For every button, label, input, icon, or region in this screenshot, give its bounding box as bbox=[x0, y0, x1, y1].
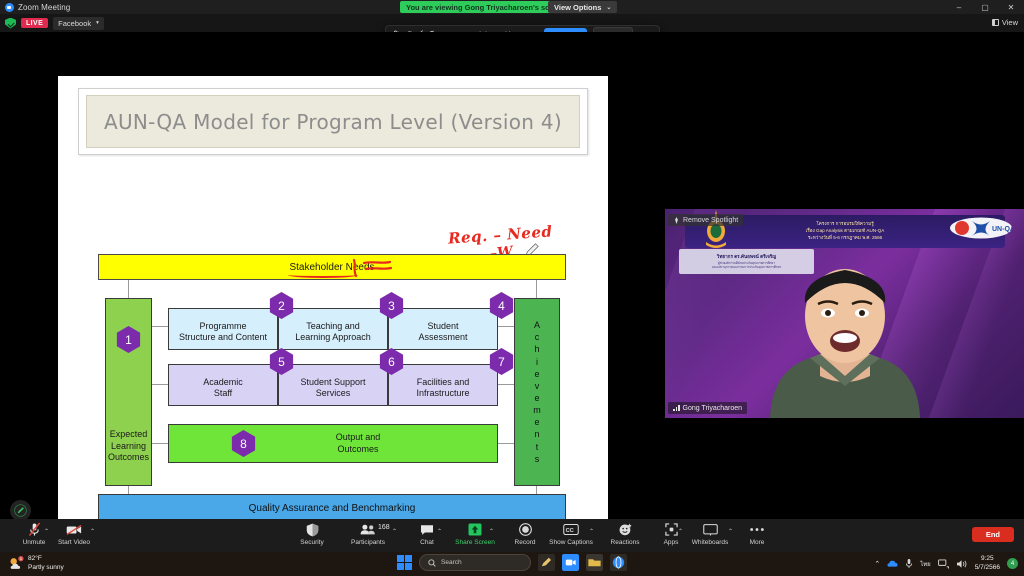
security-label: Security bbox=[300, 539, 323, 546]
mic-muted-icon bbox=[28, 522, 41, 537]
chat-bubble-icon bbox=[420, 522, 434, 537]
speaker-name-card: วิทยากร ดร.คันธพจน์ ตรีเจริญ ผู้ช่วยอธิก… bbox=[679, 249, 814, 274]
weather-widget[interactable]: 1 82°F Partly sunny bbox=[8, 555, 64, 573]
chevron-down-icon: ⌄ bbox=[606, 4, 611, 11]
people-icon bbox=[360, 522, 376, 537]
chat-label: Chat bbox=[420, 539, 434, 546]
ellipsis-icon bbox=[749, 522, 765, 537]
weather-description: Partly sunny bbox=[28, 564, 64, 573]
quality-assurance-bar: Quality Assurance and Benchmarking bbox=[98, 494, 566, 519]
windows-taskbar: 1 82°F Partly sunny Search bbox=[0, 552, 1024, 576]
clock-time: 9:25 bbox=[975, 555, 1000, 564]
connector bbox=[498, 326, 514, 327]
banner-line-3: ระหว่างวันที่ 5-6 กรกฎาคม พ.ศ. 2566 bbox=[806, 235, 885, 242]
box-2-line-1: Programme bbox=[199, 321, 246, 331]
shield-check-icon bbox=[5, 18, 16, 29]
show-captions-label: Show Captions bbox=[549, 539, 593, 546]
event-banner-text: โครงการ การอบรมให้ความรู้ เรื่อง Gap Ana… bbox=[806, 221, 885, 242]
connector bbox=[498, 443, 514, 444]
record-icon bbox=[519, 522, 532, 537]
box-6-line-2: Services bbox=[316, 388, 351, 398]
cc-icon: CC bbox=[563, 522, 579, 537]
system-tray: ⌃ ไทย 9:25 5/7/2566 4 bbox=[874, 555, 1018, 573]
tray-expand-caret[interactable]: ⌃ bbox=[874, 560, 880, 568]
participant-name-label: Gong Triyacharoen bbox=[668, 402, 747, 414]
view-icon bbox=[992, 19, 999, 26]
taskbar-app-explorer-icon[interactable] bbox=[586, 554, 603, 571]
output-line-1: Output and bbox=[336, 432, 381, 442]
screen-share-banner: You are viewing Gong Triyacharoen's scre… bbox=[400, 1, 571, 13]
annotate-pen-button[interactable] bbox=[10, 500, 31, 519]
spotlight-icon bbox=[673, 217, 680, 224]
output-line-2: Outcomes bbox=[337, 444, 378, 454]
box-7-line-1: Facilities and bbox=[417, 377, 470, 387]
elo-line-1: Expected bbox=[108, 429, 149, 440]
search-input[interactable]: Search bbox=[419, 554, 531, 571]
window-controls: – ▢ ✕ bbox=[946, 0, 1024, 14]
taskbar-app-edit-icon[interactable] bbox=[538, 554, 555, 571]
box-7-line-2: Infrastructure bbox=[416, 388, 469, 398]
zoom-icon bbox=[5, 3, 14, 12]
pen-icon bbox=[14, 504, 27, 517]
elo-line-3: Outcomes bbox=[108, 452, 149, 463]
volume-icon[interactable] bbox=[956, 559, 968, 569]
signal-bars-icon bbox=[673, 405, 680, 411]
captions-caret[interactable]: ⌃ bbox=[589, 528, 594, 535]
chevron-down-icon: ▾ bbox=[96, 20, 99, 26]
taskbar-clock[interactable]: 9:25 5/7/2566 bbox=[975, 555, 1000, 573]
zoom-meeting-toolbar: Unmute ⌃ Start Video ⌃ Security bbox=[0, 519, 1024, 552]
start-video-label: Start Video bbox=[58, 539, 90, 546]
connector bbox=[152, 443, 168, 444]
network-icon[interactable] bbox=[938, 559, 949, 569]
connector bbox=[152, 384, 168, 385]
svg-text:1: 1 bbox=[20, 557, 22, 561]
share-screen-caret[interactable]: ⌃ bbox=[489, 528, 494, 535]
participants-label: Participants bbox=[351, 539, 385, 546]
unmute-label: Unmute bbox=[23, 539, 46, 546]
more-button[interactable]: More bbox=[729, 522, 785, 546]
speaker-video-tile[interactable]: Remove Spotlight โครงการ การอบรมให้ความร… bbox=[665, 209, 1024, 418]
speaker-name: วิทยากร ดร.คันธพจน์ ตรีเจริญ bbox=[717, 254, 776, 261]
module-box-5: Academic Staff bbox=[168, 364, 278, 406]
share-screen-icon bbox=[468, 522, 482, 537]
live-badge: LIVE bbox=[21, 18, 48, 28]
slide-title: AUN-QA Model for Program Level (Version … bbox=[104, 110, 562, 134]
module-box-3: Teaching and Learning Approach bbox=[278, 308, 388, 350]
input-language-indicator[interactable]: ไทย bbox=[920, 559, 931, 569]
partly-sunny-icon: 1 bbox=[8, 556, 24, 572]
box-5-line-2: Staff bbox=[214, 388, 232, 398]
search-placeholder: Search bbox=[441, 559, 462, 566]
live-view-label: View bbox=[1002, 18, 1018, 27]
minimize-button[interactable]: – bbox=[946, 0, 972, 14]
notification-badge[interactable]: 4 bbox=[1007, 558, 1018, 569]
microphone-icon[interactable] bbox=[905, 558, 913, 569]
security-button[interactable]: Security bbox=[284, 522, 340, 546]
annotation-squiggle bbox=[350, 258, 410, 280]
connector bbox=[536, 486, 537, 494]
video-options-caret[interactable]: ⌃ bbox=[90, 528, 95, 535]
whiteboards-label: Whiteboards bbox=[692, 539, 729, 546]
participant-name: Gong Triyacharoen bbox=[683, 405, 743, 412]
elo-line-2: Learning bbox=[108, 441, 149, 452]
windows-start-icon[interactable] bbox=[397, 555, 412, 570]
video-off-icon bbox=[66, 522, 82, 537]
onedrive-icon[interactable] bbox=[887, 559, 898, 568]
participants-count: 168 bbox=[378, 524, 390, 531]
view-options-button[interactable]: View Options ⌄ bbox=[548, 1, 617, 13]
participants-caret[interactable]: ⌃ bbox=[392, 528, 397, 535]
share-screen-label: Share Screen bbox=[455, 539, 495, 546]
share-screen-button[interactable]: Share Screen bbox=[447, 522, 503, 546]
banner-line-1: โครงการ การอบรมให้ความรู้ bbox=[806, 221, 885, 228]
live-platform-dropdown[interactable]: Facebook ▾ bbox=[53, 17, 104, 30]
connector bbox=[536, 280, 537, 298]
emoji-icon bbox=[619, 522, 632, 537]
module-box-7: Facilities and Infrastructure bbox=[388, 364, 498, 406]
weather-temperature: 82°F bbox=[28, 555, 64, 564]
achievements-box: Achievements bbox=[514, 298, 560, 486]
reactions-label: Reactions bbox=[611, 539, 640, 546]
qa-label: Quality Assurance and Benchmarking bbox=[249, 503, 416, 514]
aun-qa-logo: UN-QA bbox=[950, 217, 1012, 239]
more-label: More bbox=[750, 539, 765, 546]
connector bbox=[128, 280, 129, 298]
participant-webcam-image bbox=[750, 258, 940, 418]
svg-text:UN-QA: UN-QA bbox=[992, 226, 1012, 233]
weather-text: 82°F Partly sunny bbox=[28, 555, 64, 573]
module-box-6: Student Support Services bbox=[278, 364, 388, 406]
shield-icon bbox=[306, 522, 319, 537]
remove-spotlight-label: Remove Spotlight bbox=[683, 217, 738, 224]
live-view-button[interactable]: View bbox=[992, 18, 1018, 27]
apps-label: Apps bbox=[664, 539, 679, 546]
box-2-line-2: Structure and Content bbox=[179, 332, 267, 342]
taskbar-app-browser-icon[interactable] bbox=[610, 554, 627, 571]
shared-screen-stage: AUN-QA Model for Program Level (Version … bbox=[0, 32, 1024, 519]
box-4-line-2: Assessment bbox=[418, 332, 467, 342]
banner-line-2: เรื่อง Gap Analysis ตามเกณฑ์ AUN-QA bbox=[806, 228, 885, 235]
module-box-4: Student Assessment bbox=[388, 308, 498, 350]
box-3-line-2: Learning Approach bbox=[295, 332, 371, 342]
clock-date: 5/7/2566 bbox=[975, 564, 1000, 573]
view-options-label: View Options bbox=[554, 3, 601, 12]
chat-caret[interactable]: ⌃ bbox=[437, 528, 442, 535]
remove-spotlight-button[interactable]: Remove Spotlight bbox=[668, 214, 743, 226]
connector bbox=[498, 384, 514, 385]
whiteboard-icon bbox=[703, 522, 718, 537]
svg-text:CC: CC bbox=[566, 528, 574, 534]
connector bbox=[128, 486, 129, 494]
box-5-line-1: Academic bbox=[203, 377, 243, 387]
taskbar-app-zoom-icon[interactable] bbox=[562, 554, 579, 571]
connector bbox=[152, 326, 168, 327]
box-6-line-1: Student Support bbox=[300, 377, 365, 387]
close-button[interactable]: ✕ bbox=[998, 0, 1024, 14]
speaker-desc-2: และเลขานุการคณะกรรมการประกันคุณภาพการศึก… bbox=[712, 265, 782, 269]
annotation-underline bbox=[288, 272, 358, 278]
presentation-slide: AUN-QA Model for Program Level (Version … bbox=[58, 76, 608, 519]
achievements-label: Achievements bbox=[533, 319, 541, 465]
output-outcomes-box: Output and Outcomes bbox=[168, 424, 498, 463]
slide-title-frame: AUN-QA Model for Program Level (Version … bbox=[78, 88, 588, 155]
maximize-button[interactable]: ▢ bbox=[972, 0, 998, 14]
box-4-line-1: Student bbox=[427, 321, 458, 331]
search-icon bbox=[428, 559, 436, 567]
box-3-line-1: Teaching and bbox=[306, 321, 360, 331]
window-title: Zoom Meeting bbox=[18, 3, 70, 12]
module-box-2: Programme Structure and Content bbox=[168, 308, 278, 350]
apps-icon bbox=[665, 522, 678, 537]
taskbar-center-group: Search bbox=[397, 554, 627, 571]
slide-title-box: AUN-QA Model for Program Level (Version … bbox=[86, 95, 580, 148]
record-label: Record bbox=[515, 539, 536, 546]
end-meeting-button[interactable]: End bbox=[972, 527, 1014, 542]
live-platform-label: Facebook bbox=[58, 19, 91, 28]
